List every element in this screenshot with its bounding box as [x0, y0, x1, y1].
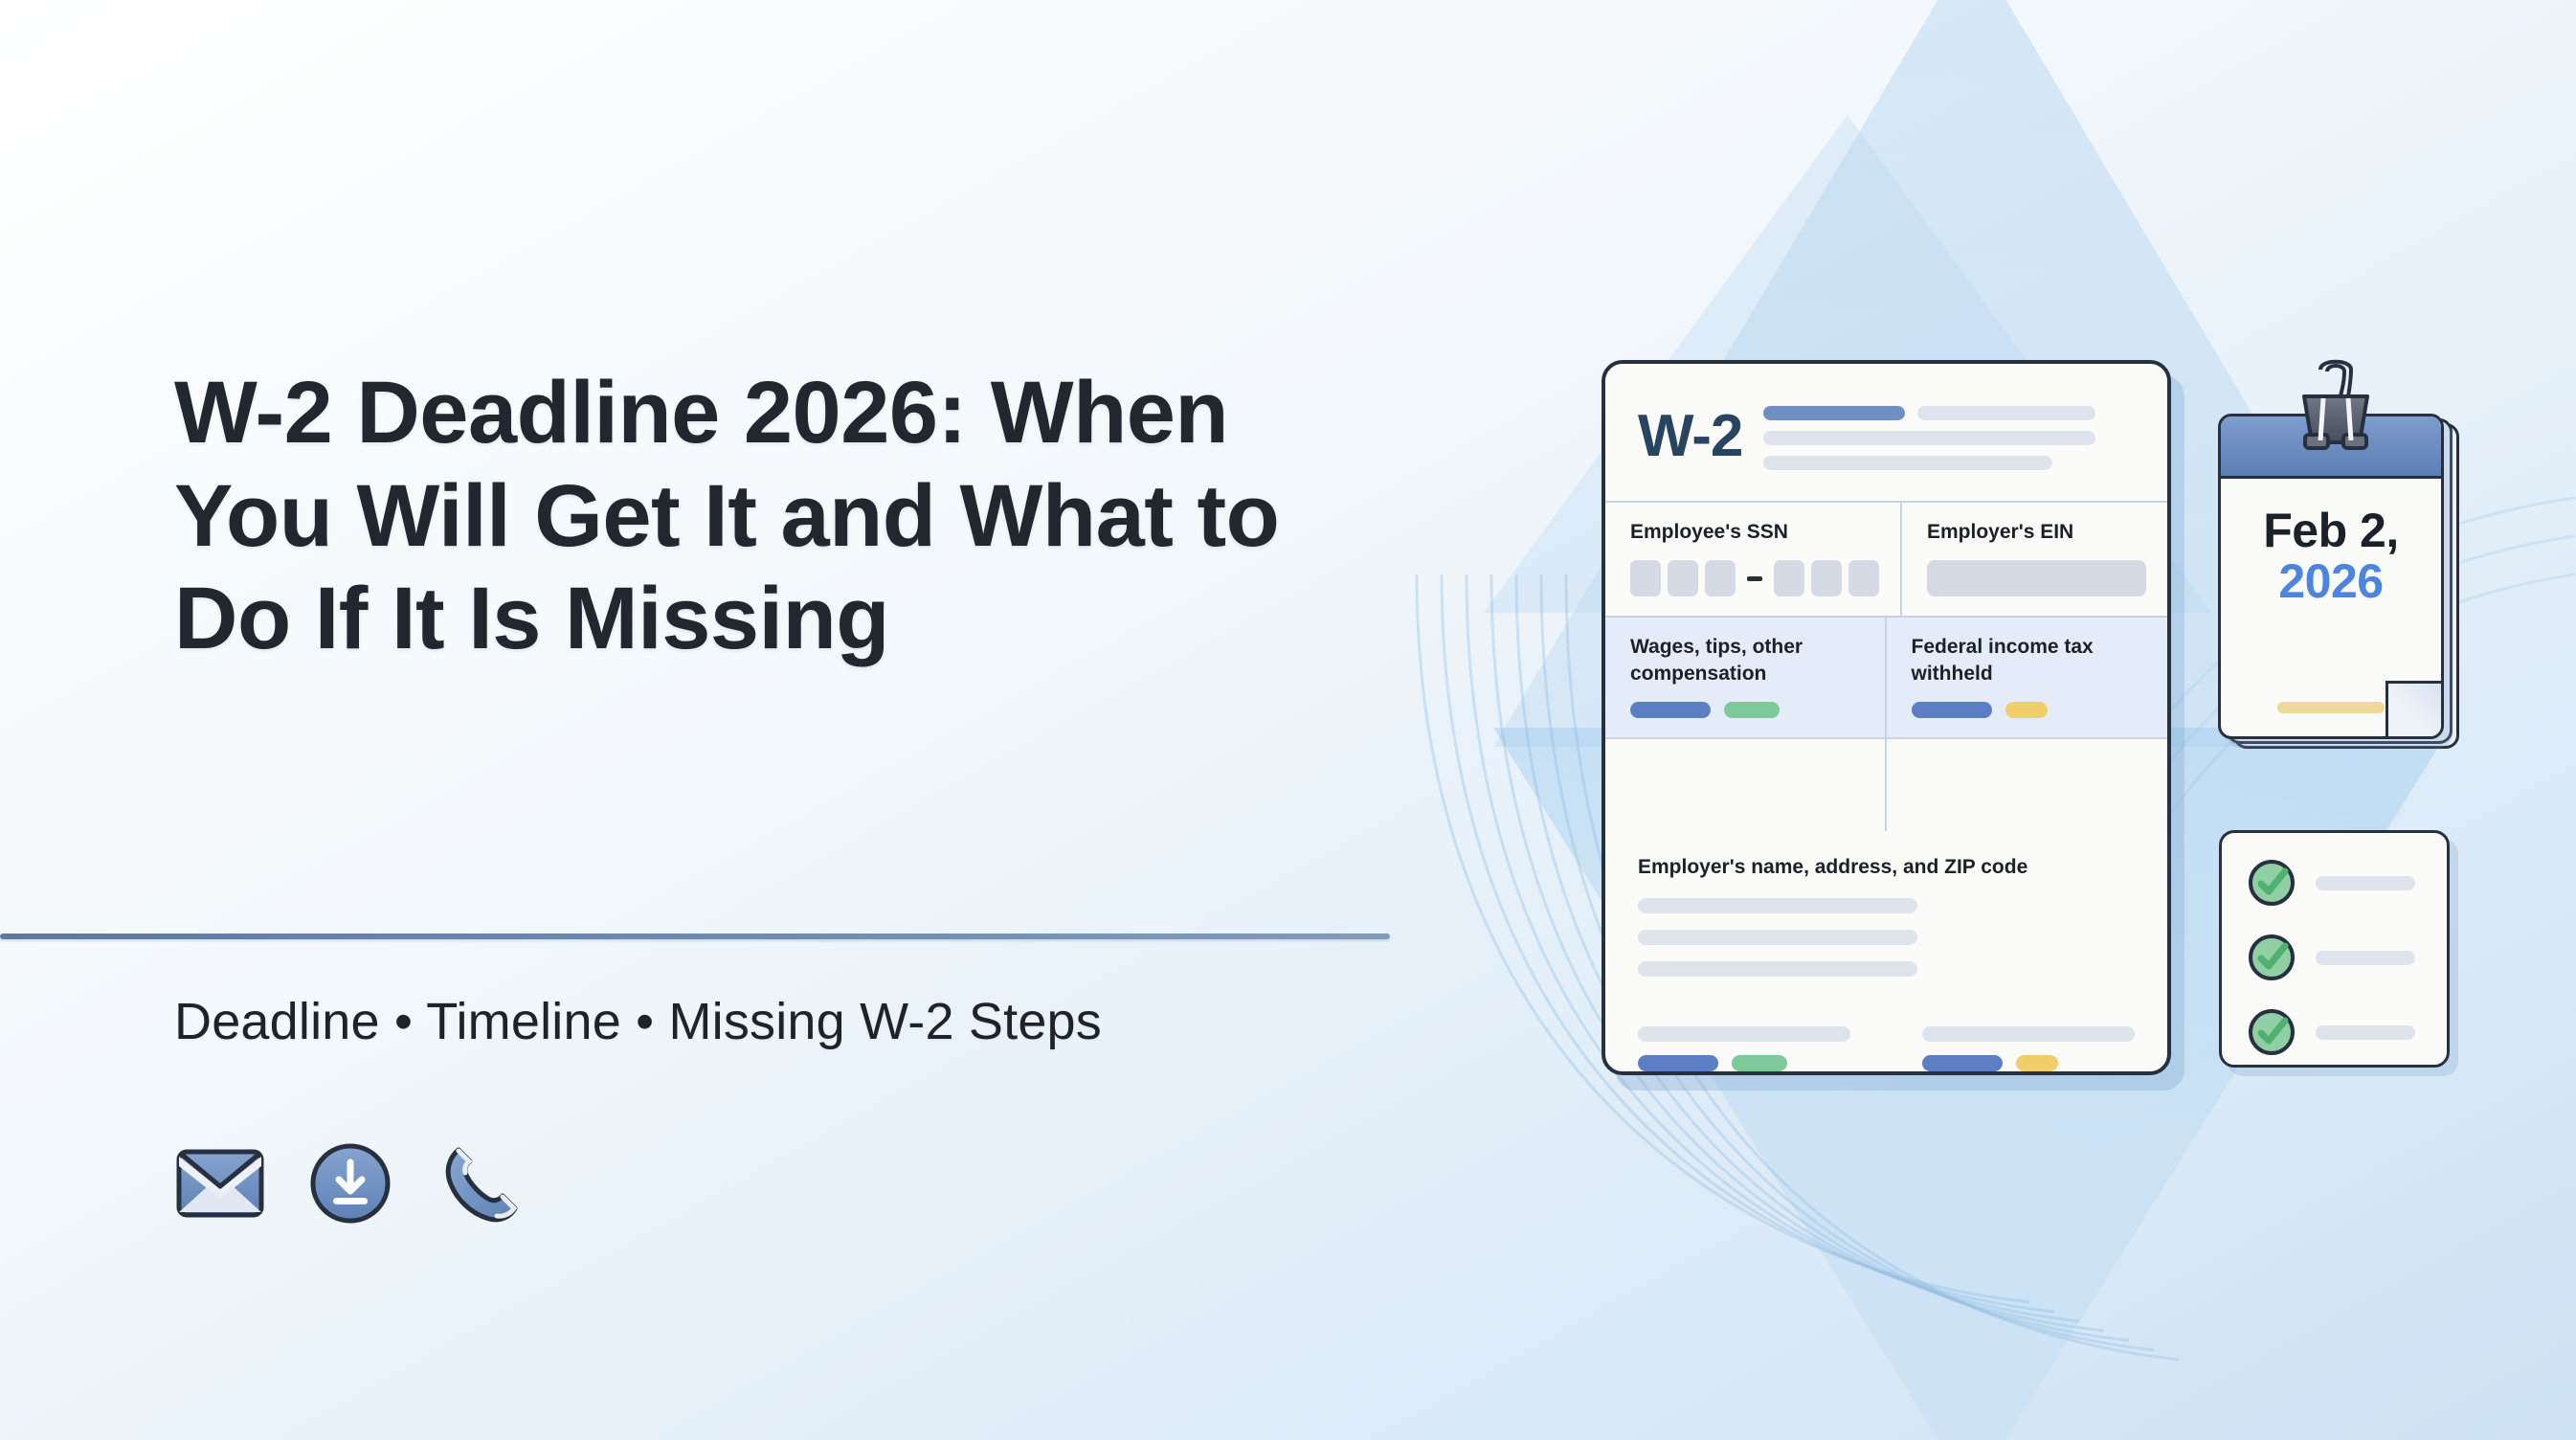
page-title: W-2 Deadline 2026: When You Will Get It … — [174, 362, 1352, 671]
checklist-item — [2247, 858, 2447, 908]
placeholder-bar — [1638, 1026, 1850, 1042]
placeholder-bar — [1922, 1026, 2135, 1042]
placeholder-bar — [1763, 456, 2052, 470]
field-employee-ssn: Employee's SSN — [1605, 503, 1902, 616]
checklist-card — [2219, 830, 2450, 1068]
w2-card-header: W-2 — [1605, 364, 2167, 470]
w2-row-blank — [1605, 739, 2167, 831]
w2-header-placeholder-lines — [1763, 402, 2135, 470]
ssn-digit-box — [1705, 560, 1736, 596]
ein-placeholder — [1927, 560, 2146, 596]
w2-row-amounts: Wages, tips, other compensation Federal … — [1605, 618, 2167, 739]
placeholder-bar — [1763, 406, 1905, 420]
w2-row-identifiers: Employee's SSN Employer's EIN — [1605, 503, 2167, 618]
placeholder-bar — [1763, 431, 2095, 445]
placeholder-bar — [1917, 406, 2095, 420]
check-circle-icon — [2247, 1007, 2296, 1057]
blank-cell — [1887, 739, 2168, 831]
check-circle-icon — [2247, 858, 2296, 908]
checklist-line — [2316, 876, 2415, 890]
ssn-dash — [1747, 576, 1762, 581]
ssn-digit-box — [1811, 560, 1842, 596]
amount-placeholder — [1912, 702, 2147, 718]
placeholder-bar — [1638, 961, 1917, 977]
field-label: Employee's SSN — [1630, 519, 1879, 545]
calendar-widget: Feb 2, 2026 — [2218, 414, 2457, 749]
calendar-month-day: Feb 2, — [2263, 506, 2398, 556]
ssn-digit-box — [1630, 560, 1661, 596]
ssn-digit-box — [1774, 560, 1804, 596]
checklist-item — [2247, 933, 2447, 982]
placeholder-bar — [1638, 898, 1917, 913]
blank-cell — [1605, 739, 1887, 831]
field-label: Federal income tax withheld — [1912, 634, 2147, 686]
calendar-page-fold — [2386, 681, 2442, 737]
bottom-amount-right — [1922, 1026, 2135, 1071]
w2-bottom-amounts — [1638, 1026, 2135, 1071]
ssn-digit-box — [1668, 560, 1698, 596]
contact-icon-row — [174, 1137, 526, 1229]
field-label: Wages, tips, other compensation — [1630, 634, 1864, 686]
pill-green — [1724, 702, 1780, 718]
hero-subhead: Deadline • Timeline • Missing W-2 Steps — [174, 992, 1102, 1051]
check-circle-icon — [2247, 933, 2296, 982]
pill-blue — [1912, 702, 1992, 718]
w2-form-card: W-2 Employee's SSN — [1602, 360, 2171, 1075]
field-wages: Wages, tips, other compensation — [1605, 618, 1887, 737]
ssn-digit-box — [1848, 560, 1879, 596]
pill-blue — [1638, 1055, 1718, 1071]
calendar-year: 2026 — [2278, 556, 2383, 607]
hero-banner: W-2 Deadline 2026: When You Will Get It … — [0, 0, 2576, 1440]
w2-field-grid: Employee's SSN Employer's EIN — [1605, 501, 2167, 831]
field-employer-ein: Employer's EIN — [1902, 503, 2167, 616]
field-federal-tax: Federal income tax withheld — [1887, 618, 2168, 737]
pill-green — [1732, 1055, 1787, 1071]
checklist-item — [2247, 1007, 2447, 1057]
w2-employer-address-section: Employer's name, address, and ZIP code — [1605, 831, 2167, 1071]
phone-icon[interactable] — [435, 1137, 526, 1229]
ssn-placeholder — [1630, 560, 1879, 596]
envelope-icon[interactable] — [174, 1137, 266, 1229]
field-label: Employer's name, address, and ZIP code — [1638, 856, 2135, 879]
pill-yellow — [2005, 702, 2048, 718]
checklist-line — [2316, 951, 2415, 965]
pill-blue — [1922, 1055, 2003, 1071]
address-placeholder-lines — [1638, 898, 2135, 977]
checklist-line — [2316, 1025, 2415, 1040]
pill-yellow — [2016, 1055, 2058, 1071]
pill-blue — [1630, 702, 1711, 718]
field-label: Employer's EIN — [1927, 519, 2146, 545]
binder-clip-icon — [2289, 358, 2383, 463]
w2-logo: W-2 — [1638, 407, 1742, 466]
amount-placeholder — [1630, 702, 1864, 718]
hero-text-column: W-2 Deadline 2026: When You Will Get It … — [174, 0, 1409, 1440]
title-divider — [0, 934, 1390, 939]
calendar-underline-highlight — [2277, 702, 2385, 713]
placeholder-bar — [1638, 930, 1917, 945]
bottom-amount-left — [1638, 1026, 1850, 1071]
download-circle-icon[interactable] — [304, 1137, 396, 1229]
